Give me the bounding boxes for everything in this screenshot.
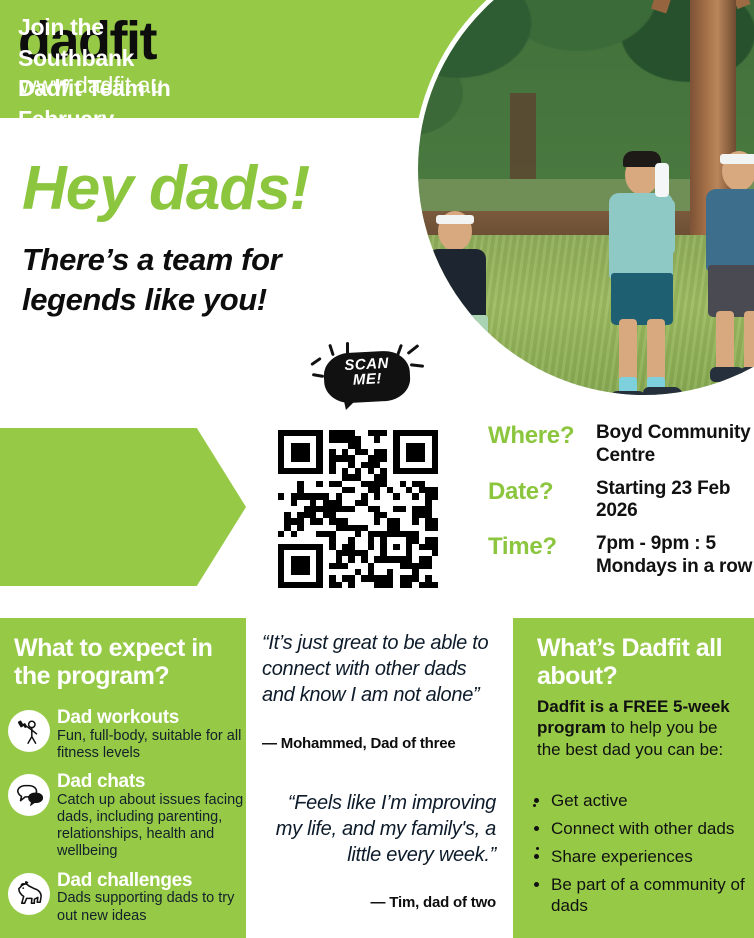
leg (716, 311, 734, 373)
shoe (740, 367, 754, 382)
list-item: Dad challenges Dads supporting dads to t… (8, 871, 246, 925)
water-bottle (655, 163, 669, 197)
list-item-title: Dad challenges (57, 871, 246, 891)
leg (647, 319, 665, 381)
list-item-body: Dad workouts Fun, full-body, suitable fo… (57, 708, 246, 762)
park-scene-image (418, 0, 754, 395)
page-title: Hey dads! (22, 158, 309, 220)
what-to-expect-panel: What to expect in the program? Dad worko… (0, 618, 246, 938)
list-item: Dad workouts Fun, full-body, suitable fo… (8, 708, 246, 762)
dumbbell-person-icon (8, 710, 50, 752)
person-3 (678, 141, 754, 400)
shorts (428, 315, 488, 361)
about-dadfit-bullets: Get active Connect with other dads Share… (551, 790, 747, 923)
hero-photo (413, 0, 754, 400)
list-item: Share experiences (551, 846, 747, 867)
scan-me-label: SCAN ME! (327, 355, 406, 389)
leg (619, 319, 637, 381)
detail-row-time: Time? 7pm - 9pm : 5 Mondays in a row (488, 533, 754, 579)
horse-icon (8, 873, 50, 915)
detail-row-where: Where? Boyd Community Centre (488, 422, 754, 468)
list-item-body: Dad challenges Dads supporting dads to t… (57, 871, 246, 925)
list-item: Dad chats Catch up about issues facing d… (8, 772, 246, 860)
list-item-title: Dad workouts (57, 708, 246, 728)
join-banner (0, 428, 246, 586)
testimonial-attribution-2: — Tim, dad of two (258, 894, 496, 911)
about-dadfit-panel: What’s Dadfit all about? Dadfit is a FRE… (513, 618, 754, 938)
list-item-desc: Fun, full-body, suitable for all fitness… (57, 728, 246, 762)
shorts (611, 273, 673, 325)
shorts (708, 265, 754, 317)
what-to-expect-list: Dad workouts Fun, full-body, suitable fo… (8, 708, 246, 935)
list-item: Get active (551, 790, 747, 811)
join-banner-text: Join the Southbank Dadfit Team in Februa… (18, 12, 198, 134)
detail-value-where: Boyd Community Centre (596, 422, 754, 468)
leg (462, 355, 479, 400)
headband (436, 215, 474, 224)
about-dadfit-title: What’s Dadfit all about? (537, 634, 747, 690)
testimonial-quote-1: “It’s just great to be able to connect w… (262, 630, 494, 708)
shoe (643, 387, 683, 400)
qr-code[interactable] (278, 430, 438, 588)
leg (436, 355, 453, 400)
torso (706, 189, 754, 271)
spark-line (407, 344, 420, 355)
detail-value-time: 7pm - 9pm : 5 Mondays in a row (596, 533, 754, 579)
arm (659, 199, 675, 255)
spark-line (310, 357, 322, 366)
list-item-desc: Catch up about issues facing dads, inclu… (57, 792, 246, 860)
detail-value-date: Starting 23 Feb 2026 (596, 478, 754, 524)
list-item: Be part of a community of dads (551, 874, 747, 916)
list-item-title: Dad chats (57, 772, 246, 792)
spark-line (328, 344, 335, 356)
detail-label-date: Date? (488, 478, 596, 524)
what-to-expect-title: What to expect in the program? (14, 634, 234, 690)
event-details: Where? Boyd Community Centre Date? Start… (488, 422, 754, 589)
page-subtitle: There’s a team for legends like you! (22, 240, 372, 319)
about-dadfit-intro: Dadfit is a FREE 5-week program to help … (537, 696, 745, 760)
poster: dadfit www.dadfit.au (0, 0, 754, 938)
person-1 (413, 205, 520, 400)
shoe (611, 391, 647, 400)
spark-line (312, 373, 324, 378)
torso (428, 249, 486, 321)
list-item-desc: Dads supporting dads to try out new idea… (57, 890, 246, 924)
speech-bubbles-icon (8, 774, 50, 816)
testimonial-attribution-1: — Mohammed, Dad of three (262, 735, 502, 752)
list-item-body: Dad chats Catch up about issues facing d… (57, 772, 246, 860)
scan-me-badge: SCAN ME! (306, 344, 426, 416)
detail-row-date: Date? Starting 23 Feb 2026 (488, 478, 754, 524)
headband (720, 154, 754, 164)
spark-line (410, 363, 424, 367)
list-item: Connect with other dads (551, 818, 747, 839)
testimonial-quote-2: “Feels like I’m improving my life, and m… (258, 790, 496, 868)
detail-label-time: Time? (488, 533, 596, 579)
detail-label-where: Where? (488, 422, 596, 468)
leg (744, 311, 754, 373)
